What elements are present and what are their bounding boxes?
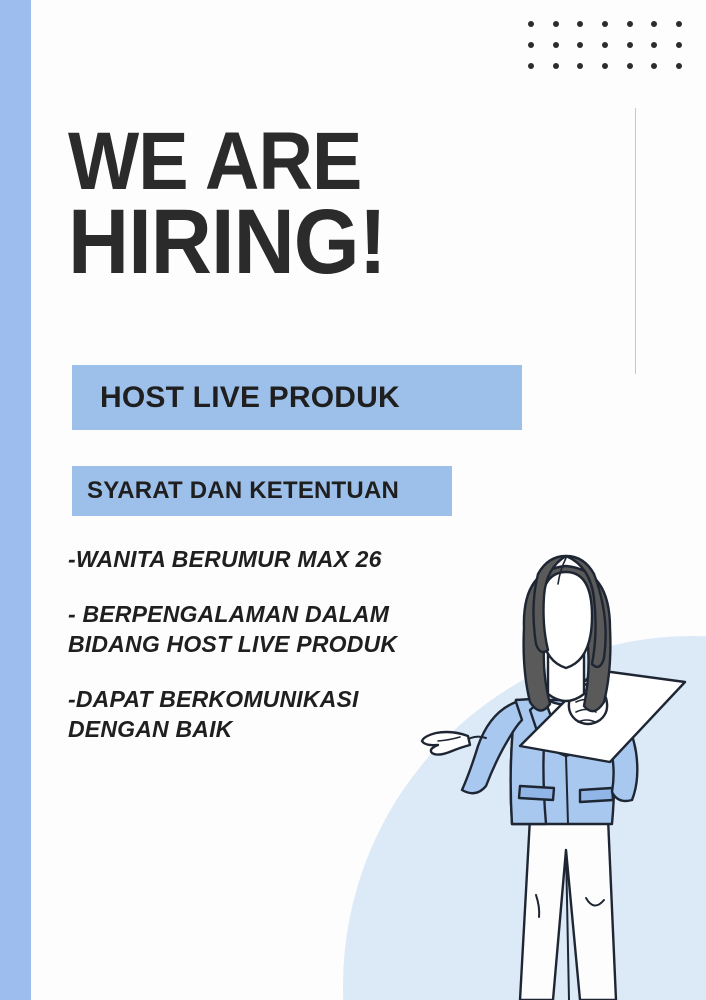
requirement-item: -WANITA BERUMUR MAX 26 (68, 545, 468, 574)
left-accent-strip (0, 0, 31, 1000)
dot-icon (651, 42, 657, 48)
blazer-pocket-left (519, 786, 554, 800)
dot-icon (602, 63, 608, 69)
dot-icon (627, 63, 633, 69)
dot-icon (577, 21, 583, 27)
blazer-pocket-right (580, 788, 613, 802)
dot-icon (627, 42, 633, 48)
dot-icon (602, 42, 608, 48)
headline-line-2: HIRING! (68, 202, 386, 283)
dot-icon (528, 63, 534, 69)
dot-icon (553, 63, 559, 69)
vertical-rule-decoration (635, 108, 636, 374)
dot-icon (651, 21, 657, 27)
headline-line-1: WE ARE (68, 126, 386, 198)
dot-icon (676, 21, 682, 27)
dot-icon (602, 21, 608, 27)
requirement-item: - BERPENGALAMAN DALAM BIDANG HOST LIVE P… (68, 600, 468, 659)
dot-grid-decoration (519, 14, 691, 76)
dot-icon (577, 63, 583, 69)
dot-icon (627, 21, 633, 27)
headline: WE ARE HIRING! (68, 126, 414, 283)
dot-icon (676, 42, 682, 48)
face-blank (540, 572, 592, 668)
role-banner: HOST LIVE PRODUK (72, 365, 522, 430)
dot-icon (676, 63, 682, 69)
dot-icon (651, 63, 657, 69)
dot-icon (553, 42, 559, 48)
requirement-item: -DAPAT BERKOMUNIKASI DENGAN BAIK (68, 685, 468, 744)
dot-icon (528, 21, 534, 27)
requirements-list: -WANITA BERUMUR MAX 26 - BERPENGALAMAN D… (68, 545, 468, 744)
dot-icon (528, 42, 534, 48)
hiring-poster: WE ARE HIRING! HOST LIVE PRODUK SYARAT D… (0, 0, 706, 1000)
presenter-illustration (420, 550, 706, 1000)
dot-icon (553, 21, 559, 27)
role-banner-label: HOST LIVE PRODUK (100, 381, 400, 415)
left-hand-open-palm (422, 732, 470, 755)
terms-banner: SYARAT DAN KETENTUAN (72, 466, 452, 516)
dot-icon (577, 42, 583, 48)
terms-banner-label: SYARAT DAN KETENTUAN (87, 477, 399, 505)
